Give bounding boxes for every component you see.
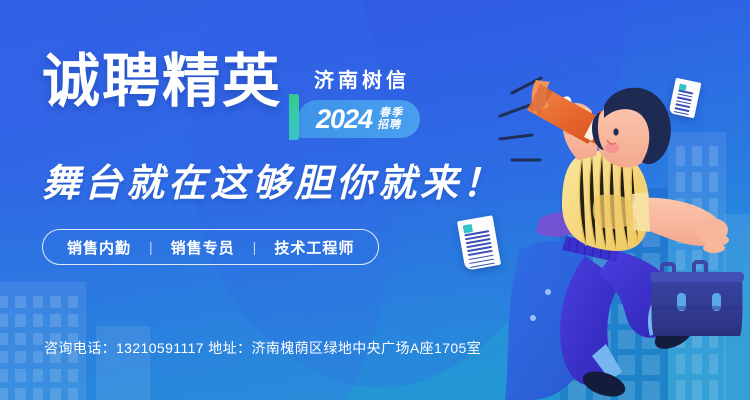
job-position-2: 销售专员 <box>171 237 235 258</box>
job-position-3: 技术工程师 <box>274 237 354 258</box>
page-subtitle: 舞台就在这够胆你就来！ <box>42 152 562 207</box>
resume-doc-icon <box>669 78 702 119</box>
job-positions-pill: 销售内勤 | 销售专员 | 技术工程师 <box>42 229 379 265</box>
badge-column: 济南树信 2024 春 季 招 聘 <box>298 52 420 138</box>
title-row: 诚聘精英 济南树信 2024 春 季 招 聘 <box>42 52 562 138</box>
badge-accent-bar <box>289 94 310 140</box>
job-separator: | <box>131 239 171 255</box>
season-char-4: 聘 <box>389 119 402 131</box>
eye <box>613 128 618 135</box>
year-label: 2024 <box>316 104 372 135</box>
year-badge: 2024 春 季 招 聘 <box>298 100 420 138</box>
building-shape <box>668 132 726 400</box>
company-name: 济南树信 <box>314 64 420 93</box>
building-shape <box>560 188 668 400</box>
contact-info: 咨询电话：13210591117 地址：济南槐荫区绿地中央广场A座1705室 <box>44 338 481 358</box>
banner-copy: 诚聘精英 济南树信 2024 春 季 招 聘 舞台就在这够胆你就来！ 销售内勤 <box>42 52 562 265</box>
season-char-2: 季 <box>391 107 404 119</box>
cheek <box>605 143 619 153</box>
recruitment-banner: 诚聘精英 济南树信 2024 春 季 招 聘 舞台就在这够胆你就来！ 销售内勤 <box>0 0 750 400</box>
season-recruit-label: 春 季 招 聘 <box>377 107 404 131</box>
building-shape <box>724 214 750 400</box>
job-separator: | <box>235 239 275 255</box>
job-position-1: 销售内勤 <box>67 237 131 258</box>
page-title: 诚聘精英 <box>42 52 282 111</box>
